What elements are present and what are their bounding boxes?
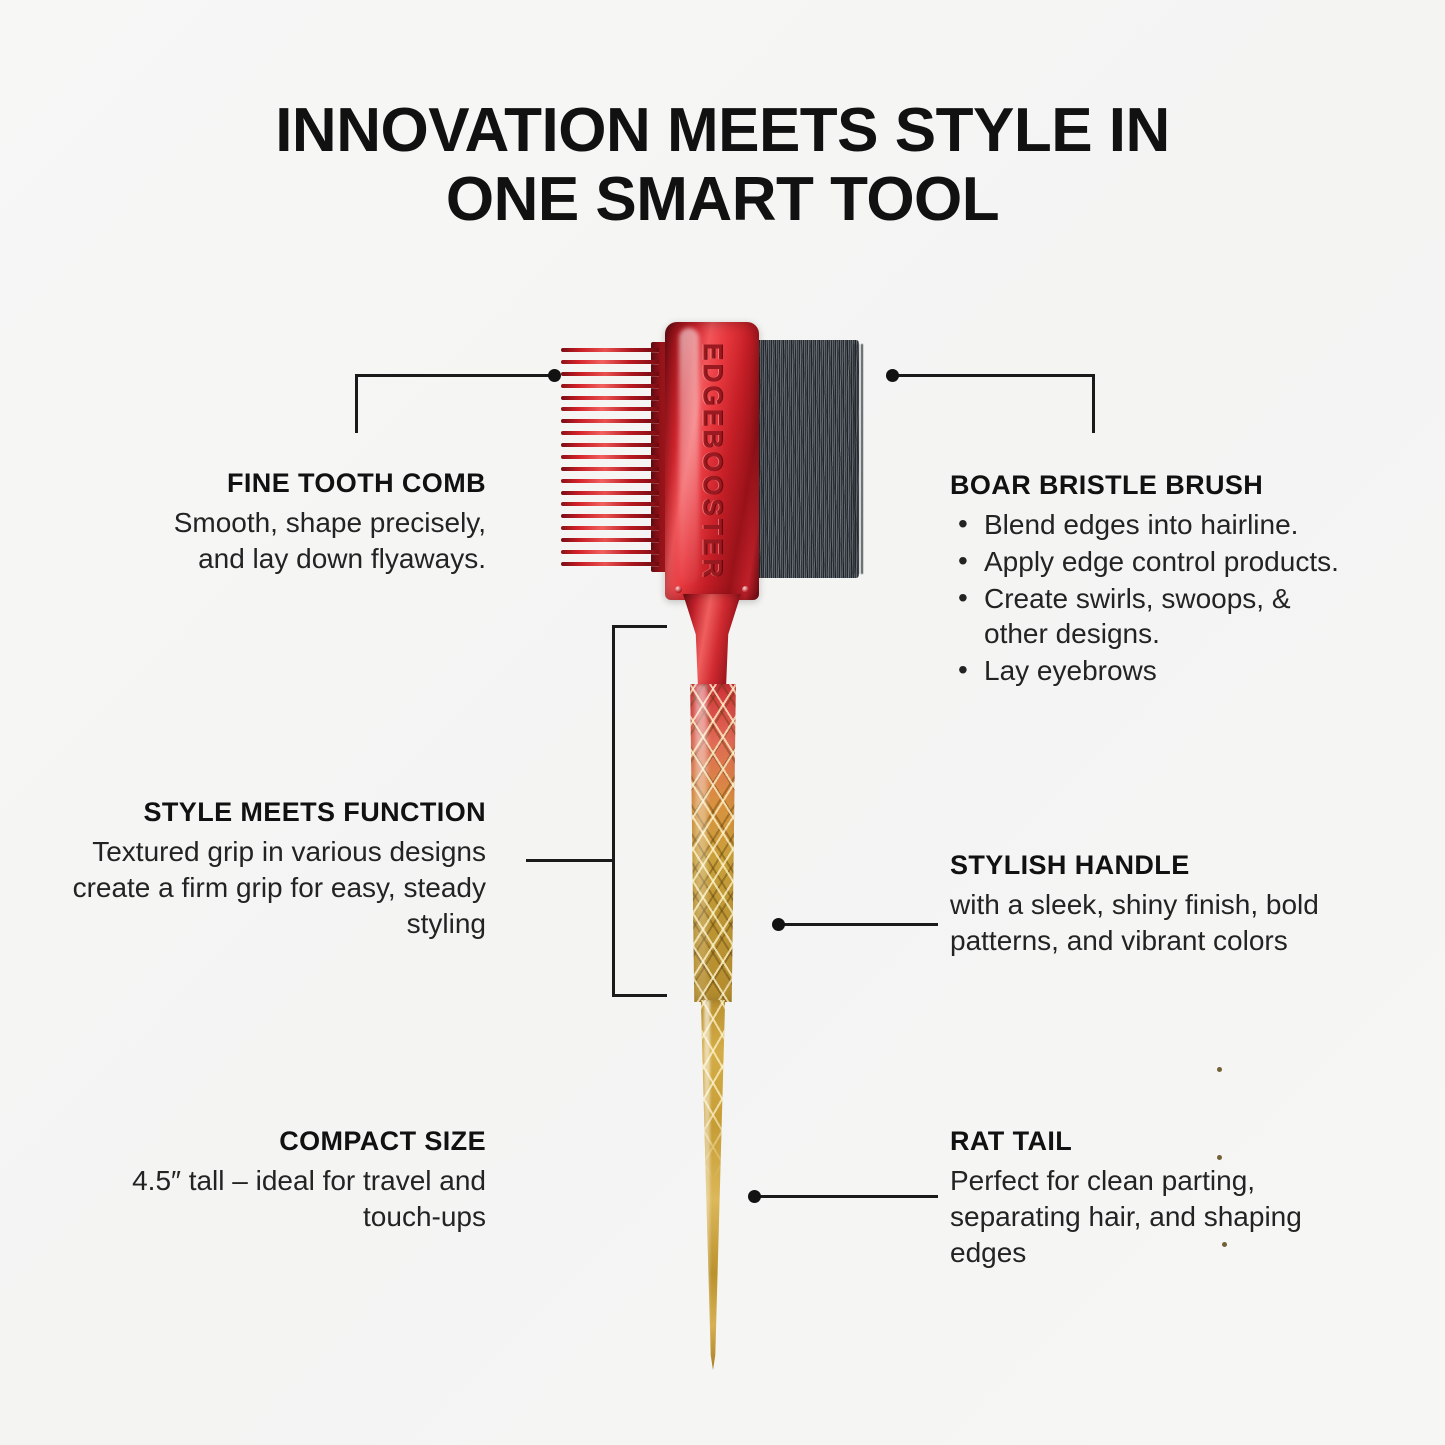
- feature-block-compact-size: COMPACT SIZE 4.5″ tall – ideal for trave…: [120, 1126, 486, 1235]
- list-item: • Blend edges into hairline.: [950, 507, 1362, 543]
- leader-endpoint-dot-icon: [886, 369, 899, 382]
- comb-tooth: [561, 502, 659, 506]
- comb-tooth: [561, 443, 659, 447]
- textured-grip-handle: [687, 684, 739, 1002]
- rat-tail-point: [694, 1000, 732, 1370]
- infographic-page: INNOVATION MEETS STYLE IN ONE SMART TOOL: [0, 0, 1445, 1445]
- comb-tooth: [561, 360, 659, 364]
- bullet-dot-icon: •: [958, 652, 968, 688]
- fine-tooth-comb-teeth: [561, 348, 659, 566]
- comb-tooth: [561, 455, 659, 459]
- page-title-line-2: ONE SMART TOOL: [0, 165, 1445, 234]
- brush-neck: [683, 594, 741, 690]
- brand-name-edgebooster: EDGEBOOSTER: [697, 342, 728, 580]
- feature-heading-stylish-handle: STYLISH HANDLE: [950, 850, 1350, 881]
- comb-tooth: [561, 396, 659, 400]
- leader-vertical-segment: [355, 374, 358, 433]
- product-image-edge-booster-brush: EDGEBOOSTER: [555, 312, 885, 1372]
- list-item-label: Create swirls, swoops, & other designs.: [984, 583, 1291, 650]
- feature-body-rat-tail: Perfect for clean parting, separating ha…: [950, 1163, 1350, 1270]
- comb-tooth: [561, 348, 659, 352]
- leader-horizontal-segment: [355, 374, 554, 377]
- head-screw-right: [742, 586, 749, 593]
- list-item-label: Blend edges into hairline.: [984, 509, 1298, 540]
- feature-bullet-list-boar-bristle-brush: • Blend edges into hairline. • Apply edg…: [950, 507, 1362, 689]
- head-screw-left: [675, 586, 682, 593]
- feature-block-fine-tooth-comb: FINE TOOTH COMB Smooth, shape precisely,…: [120, 468, 486, 577]
- comb-tooth: [561, 562, 659, 566]
- rat-tail-lattice-pattern: [694, 1000, 732, 1180]
- feature-block-stylish-handle: STYLISH HANDLE with a sleek, shiny finis…: [950, 850, 1350, 959]
- feature-heading-compact-size: COMPACT SIZE: [120, 1126, 486, 1157]
- page-title-line-1: INNOVATION MEETS STYLE IN: [0, 96, 1445, 165]
- leader-line-boar-bristle-brush: [886, 368, 1098, 433]
- feature-body-compact-size: 4.5″ tall – ideal for travel and touch-u…: [120, 1163, 486, 1235]
- feature-body-fine-tooth-comb: Smooth, shape precisely, and lay down fl…: [120, 505, 486, 577]
- feature-block-style-meets-function: STYLE MEETS FUNCTION Textured grip in va…: [60, 797, 486, 941]
- comb-tooth: [561, 538, 659, 542]
- list-item: • Lay eyebrows: [950, 653, 1362, 689]
- feature-body-stylish-handle: with a sleek, shiny finish, bold pattern…: [950, 887, 1350, 959]
- bullet-dot-icon: •: [958, 580, 968, 616]
- comb-tooth: [561, 491, 659, 495]
- feature-heading-fine-tooth-comb: FINE TOOTH COMB: [120, 468, 486, 499]
- bullet-dot-icon: •: [958, 506, 968, 542]
- comb-tooth: [561, 526, 659, 530]
- feature-heading-boar-bristle-brush: BOAR BRISTLE BRUSH: [950, 470, 1362, 501]
- brush-head-body: EDGEBOOSTER: [665, 322, 759, 600]
- leader-vertical-segment: [1092, 374, 1095, 433]
- feature-heading-style-meets-function: STYLE MEETS FUNCTION: [60, 797, 486, 828]
- list-item: • Create swirls, swoops, & other designs…: [950, 581, 1362, 653]
- list-item: • Apply edge control products.: [950, 544, 1362, 580]
- comb-tooth: [561, 384, 659, 388]
- comb-tooth: [561, 479, 659, 483]
- comb-tooth: [561, 407, 659, 411]
- brand-label-wrapper: EDGEBOOSTER: [665, 322, 759, 600]
- rat-tail-gloss-highlight: [704, 1000, 710, 1370]
- bullet-dot-icon: •: [958, 543, 968, 579]
- handle-gloss-highlight: [695, 684, 707, 1002]
- page-title: INNOVATION MEETS STYLE IN ONE SMART TOOL: [0, 96, 1445, 235]
- comb-tooth: [561, 467, 659, 471]
- comb-tooth: [561, 419, 659, 423]
- leader-line-fine-tooth-comb: [355, 368, 560, 433]
- feature-body-style-meets-function: Textured grip in various designs create …: [60, 834, 486, 941]
- feature-block-rat-tail: RAT TAIL Perfect for clean parting, sepa…: [950, 1126, 1350, 1270]
- comb-tooth: [561, 550, 659, 554]
- comb-tooth: [561, 431, 659, 435]
- handle-pinhole: [1217, 1067, 1222, 1072]
- comb-tooth: [561, 372, 659, 376]
- leader-horizontal-segment: [892, 374, 1095, 377]
- comb-tooth: [561, 514, 659, 518]
- feature-heading-rat-tail: RAT TAIL: [950, 1126, 1350, 1157]
- list-item-label: Lay eyebrows: [984, 655, 1157, 686]
- list-item-label: Apply edge control products.: [984, 546, 1339, 577]
- feature-block-boar-bristle-brush: BOAR BRISTLE BRUSH • Blend edges into ha…: [950, 470, 1362, 690]
- boar-bristle-brush-head: [753, 340, 859, 578]
